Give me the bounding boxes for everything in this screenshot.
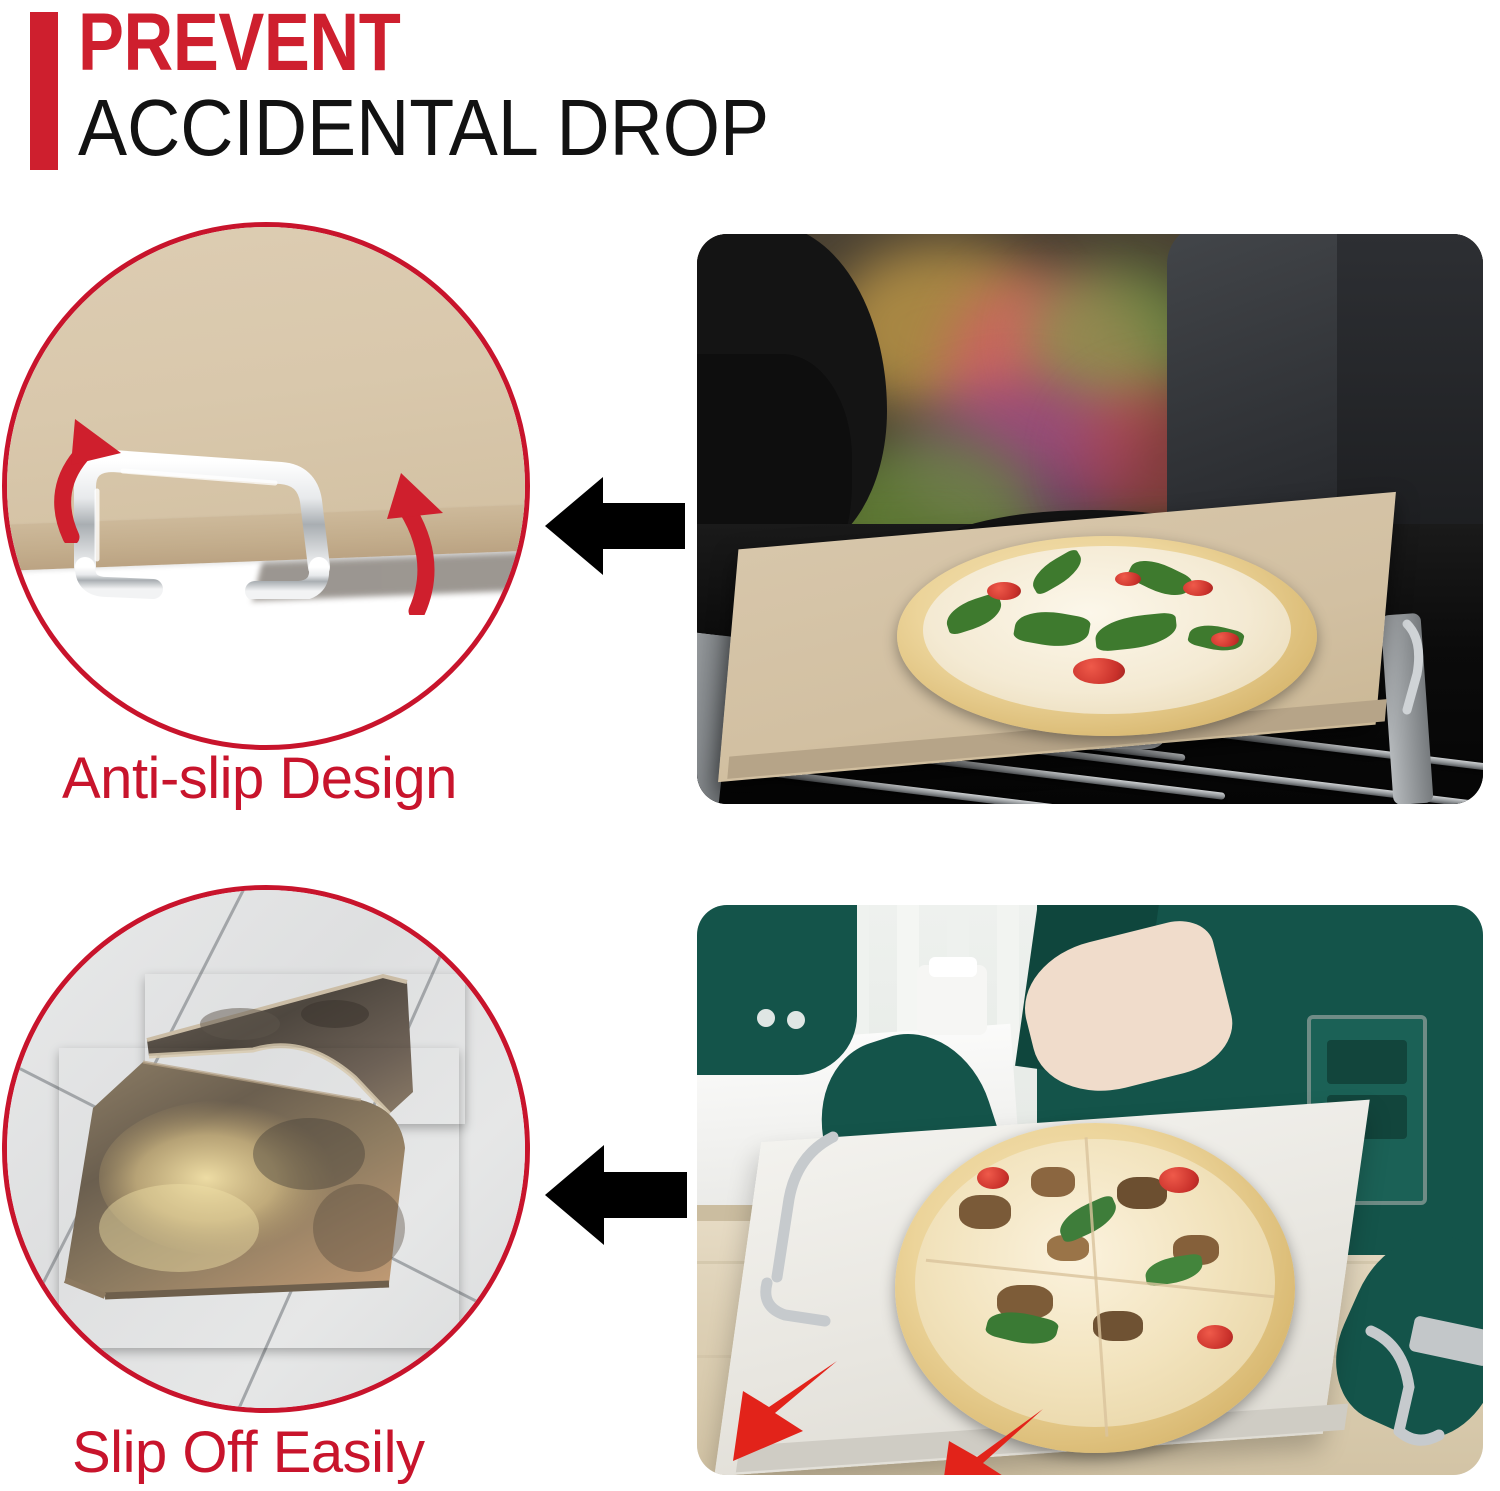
photo-stone-slipping (697, 905, 1483, 1475)
header: PREVENT ACCIDENTAL DROP (0, 0, 1500, 200)
caption-anti-slip: Anti-slip Design (62, 748, 457, 810)
red-accent-bar (30, 12, 58, 170)
photo-stone-on-grill (697, 234, 1483, 804)
headline-line1: PREVENT (78, 2, 400, 84)
black-left-arrow-icon-top (545, 473, 685, 579)
detail-circle-slip-off (2, 885, 530, 1413)
anti-slip-illustration (7, 227, 525, 745)
broken-stone-illustration (7, 890, 525, 1408)
infographic-page: PREVENT ACCIDENTAL DROP (0, 0, 1500, 1491)
detail-circle-anti-slip (2, 222, 530, 750)
black-left-arrow-icon-bottom (545, 1141, 687, 1249)
headline-line2: ACCIDENTAL DROP (78, 88, 769, 168)
caption-slip-off: Slip Off Easily (72, 1422, 424, 1484)
red-curved-up-arrow-left-icon (37, 413, 177, 543)
red-slip-arrow-2-icon (925, 1405, 1055, 1475)
red-slip-arrow-1-icon (719, 1357, 849, 1467)
burnt-pizza-stone-slab (59, 1048, 459, 1348)
red-curved-up-arrow-right-icon (359, 465, 499, 615)
